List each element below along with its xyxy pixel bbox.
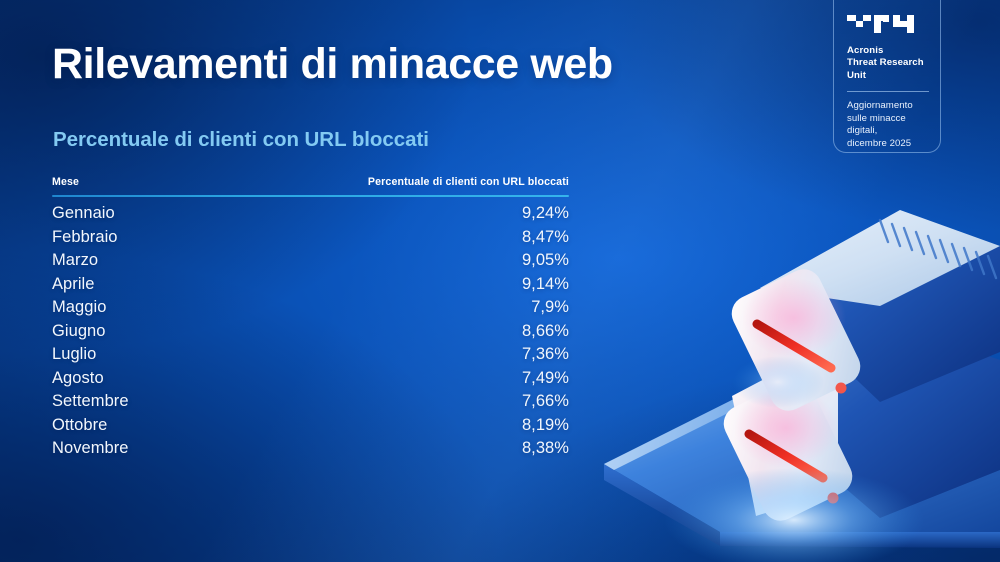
server-stack-3d-illustration xyxy=(580,202,1000,562)
table-row: Agosto7,49% xyxy=(52,369,569,393)
cell-percentage: 9,05% xyxy=(522,251,569,270)
badge-note: Aggiornamento sulle minacce digitali, di… xyxy=(847,100,929,150)
cell-percentage: 8,66% xyxy=(522,322,569,341)
cell-month: Maggio xyxy=(52,298,106,317)
badge-org-line-3: Unit xyxy=(847,70,929,82)
badge-note-line-4: dicembre 2025 xyxy=(847,138,929,151)
cell-percentage: 7,66% xyxy=(522,392,569,411)
cell-month: Gennaio xyxy=(52,204,115,223)
table-row: Giugno8,66% xyxy=(52,322,569,346)
table-body: Gennaio9,24%Febbraio8,47%Marzo9,05%April… xyxy=(52,204,569,463)
cell-month: Settembre xyxy=(52,392,129,411)
table-row: Settembre7,66% xyxy=(52,392,569,416)
cell-percentage: 8,19% xyxy=(522,416,569,435)
column-header-month: Mese xyxy=(52,176,79,188)
cell-percentage: 7,9% xyxy=(531,298,569,317)
cell-month: Luglio xyxy=(52,345,96,364)
badge-divider xyxy=(847,91,929,92)
table-row: Maggio7,9% xyxy=(52,298,569,322)
tru-wordmark-icon xyxy=(847,13,921,35)
threat-detection-table: Mese Percentuale di clienti con URL bloc… xyxy=(52,176,569,463)
table-row: Gennaio9,24% xyxy=(52,204,569,228)
cell-month: Agosto xyxy=(52,369,104,388)
badge-org-line-2: Threat Research xyxy=(847,57,929,69)
badge-note-line-2: sulle minacce xyxy=(847,113,929,126)
page-title: Rilevamenti di minacce web xyxy=(52,42,613,88)
column-header-percentage: Percentuale di clienti con URL bloccati xyxy=(368,176,569,188)
table-row: Ottobre8,19% xyxy=(52,416,569,440)
table-row: Luglio7,36% xyxy=(52,345,569,369)
cell-month: Febbraio xyxy=(52,228,118,247)
cell-month: Ottobre xyxy=(52,416,107,435)
cell-month: Marzo xyxy=(52,251,98,270)
table-row: Aprile9,14% xyxy=(52,275,569,299)
table-header-divider xyxy=(52,195,569,197)
cell-month: Novembre xyxy=(52,439,129,458)
cell-month: Aprile xyxy=(52,275,95,294)
cell-percentage: 7,36% xyxy=(522,345,569,364)
table-row: Febbraio8,47% xyxy=(52,228,569,252)
badge-org-line-1: Acronis xyxy=(847,45,929,57)
tru-badge: Acronis Threat Research Unit Aggiornamen… xyxy=(833,0,941,153)
cell-percentage: 9,24% xyxy=(522,204,569,223)
cell-percentage: 8,38% xyxy=(522,439,569,458)
cell-month: Giugno xyxy=(52,322,106,341)
table-row: Novembre8,38% xyxy=(52,439,569,463)
page-subtitle: Percentuale di clienti con URL bloccati xyxy=(53,128,429,152)
badge-note-line-3: digitali, xyxy=(847,125,929,138)
table-header-row: Mese Percentuale di clienti con URL bloc… xyxy=(52,176,569,195)
cell-percentage: 8,47% xyxy=(522,228,569,247)
badge-organization: Acronis Threat Research Unit xyxy=(847,45,929,82)
cell-percentage: 9,14% xyxy=(522,275,569,294)
table-row: Marzo9,05% xyxy=(52,251,569,275)
badge-note-line-1: Aggiornamento xyxy=(847,100,929,113)
cell-percentage: 7,49% xyxy=(522,369,569,388)
